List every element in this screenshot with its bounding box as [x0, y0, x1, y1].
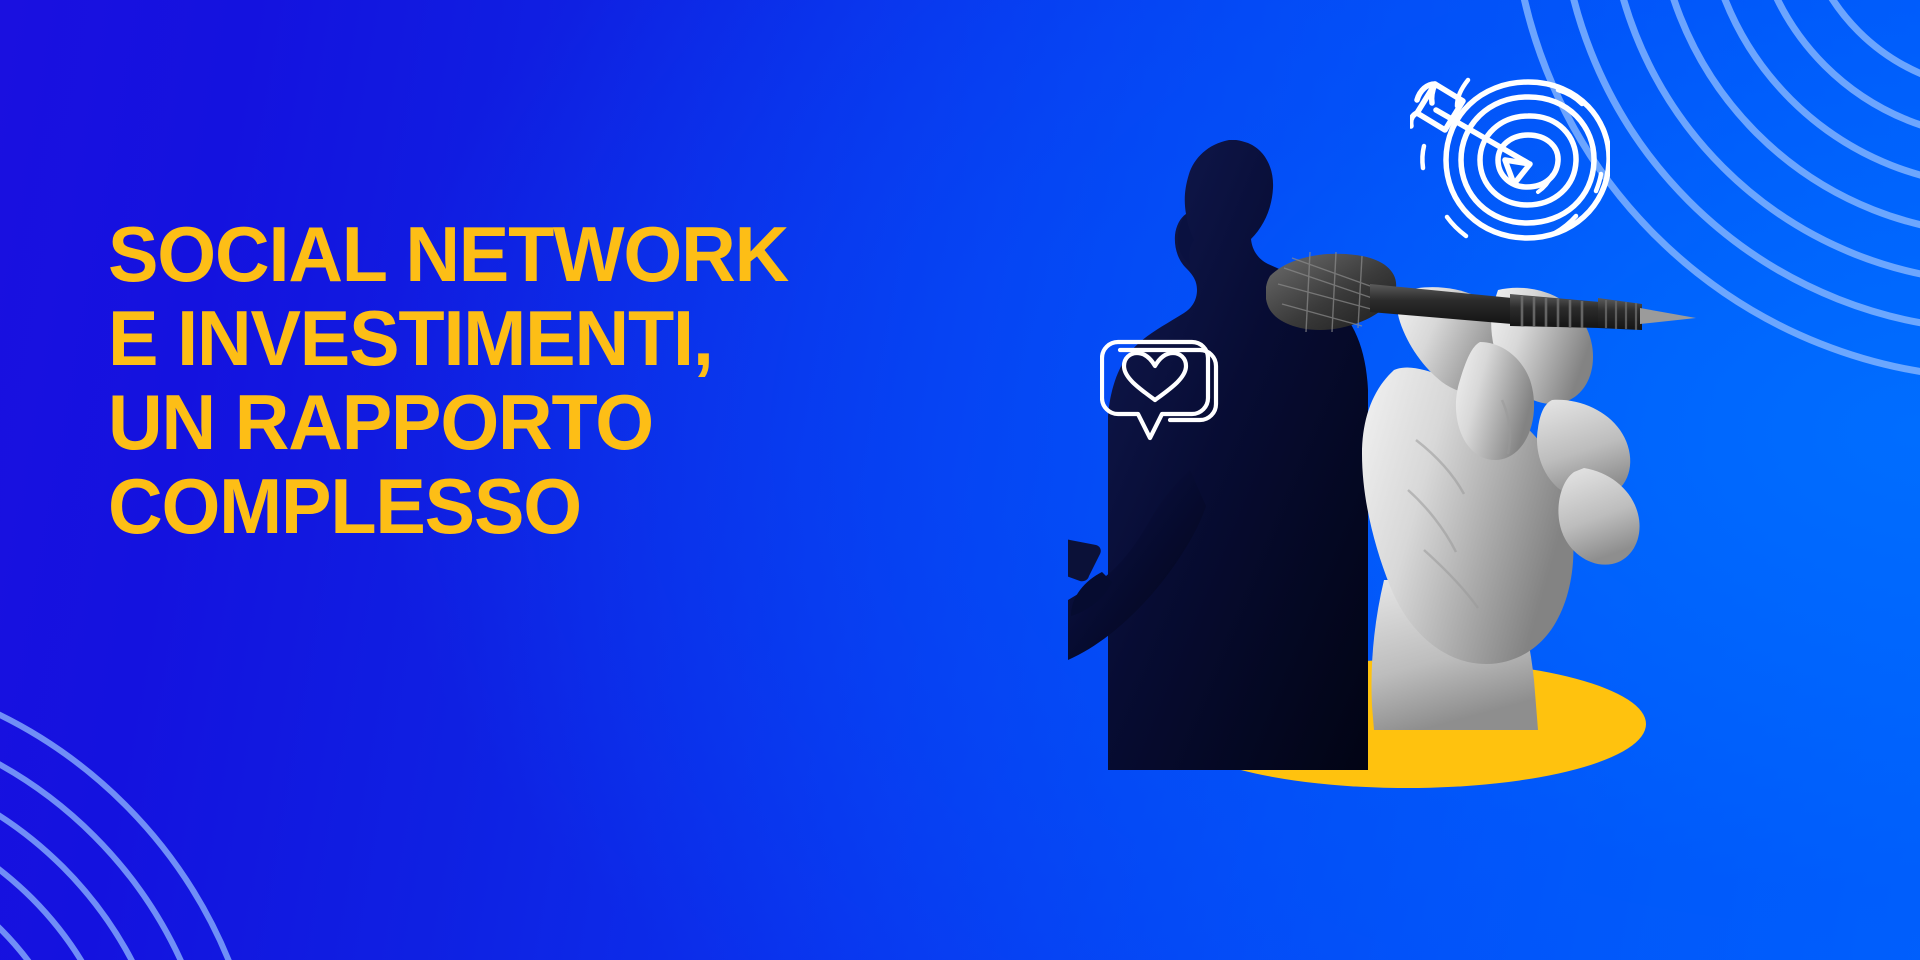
hero-artwork: [1080, 0, 1920, 960]
headline-line-4: COMPLESSO: [108, 464, 788, 548]
target-arrow-icon: [1410, 68, 1610, 248]
heart-speech-bubble-icon: [1100, 336, 1220, 451]
headline: SOCIAL NETWORK E INVESTIMENTI, UN RAPPOR…: [108, 212, 809, 548]
headline-line-1: SOCIAL NETWORK: [108, 212, 788, 296]
headline-line-3: UN RAPPORTO: [108, 380, 788, 464]
headline-line-2: E INVESTIMENTI,: [108, 296, 788, 380]
hero-banner: SOCIAL NETWORK E INVESTIMENTI, UN RAPPOR…: [0, 0, 1920, 960]
concentric-arcs-bottom-left: [0, 560, 440, 960]
hand-holding-dart: [1266, 250, 1696, 730]
